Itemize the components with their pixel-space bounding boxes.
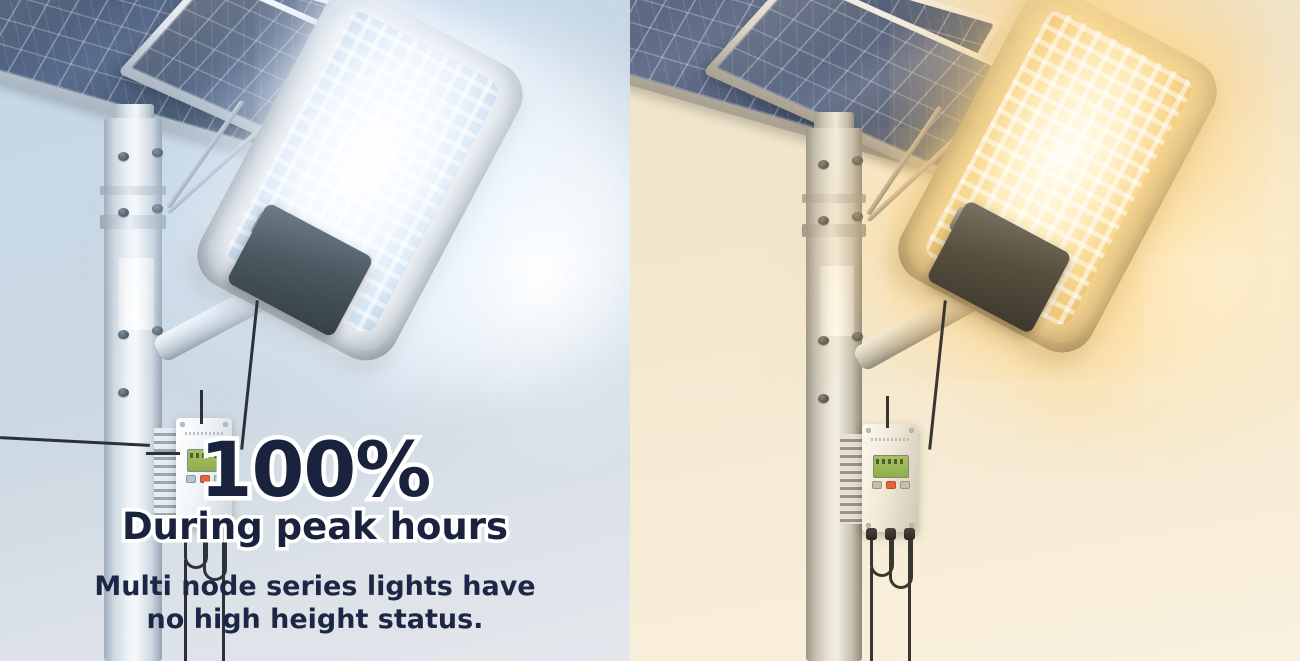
controller-top-cable (200, 390, 203, 424)
cable-gland (866, 528, 877, 540)
controller-buttons-right[interactable] (872, 481, 910, 489)
pole-bolt (818, 160, 829, 169)
pole-bolt (818, 216, 829, 225)
left-description: Multi node series lights have no high he… (0, 571, 630, 637)
pole-collar-upper-right (802, 194, 866, 203)
left-text-block: 100% During peak hours Multi node series… (0, 432, 630, 637)
controller-screw (866, 428, 871, 433)
pole-bolt (118, 330, 129, 339)
pole-collar-upper-left (100, 186, 166, 195)
left-description-line1: Multi node series lights have (2, 571, 628, 604)
panel-right-off-peak-hours: 30% Off peak hours Multi node series lig… (630, 0, 1300, 661)
power-cable-drop (870, 568, 873, 661)
right-subtitle-line: Off peak hours (1282, 496, 1300, 533)
pole-bolt (818, 336, 829, 345)
panel-left-peak-hours: 100% During peak hours Multi node series… (0, 0, 630, 661)
pole-bolt (152, 148, 163, 157)
pole-white-band-right (820, 266, 854, 336)
controller-lcd-right (873, 455, 909, 478)
pole-collar-left (100, 215, 166, 229)
left-subtitle: During peak hours (122, 505, 508, 548)
pole-bolt (118, 152, 129, 161)
pole-collar-right (802, 224, 866, 237)
left-description-line2: no high height status. (2, 604, 628, 637)
comparison-banner: 100% During peak hours Multi node series… (0, 0, 1300, 661)
power-cable-drop (908, 540, 911, 661)
controller-top-cable (886, 396, 889, 428)
left-subtitle-line: During peak hours (0, 508, 630, 545)
solar-street-light-assembly-right (630, 0, 1300, 661)
controller-screw (180, 422, 185, 427)
pole-bolt (152, 204, 163, 213)
controller-brand-label (871, 438, 909, 441)
right-description: Multi node series lights do not require … (1282, 561, 1300, 660)
controller-heatsink-right (840, 434, 864, 524)
cable-gland (904, 528, 915, 540)
pole-bolt (852, 156, 863, 165)
pole-white-band-left (118, 258, 154, 330)
pole-right (806, 128, 862, 661)
pole-bolt (852, 212, 863, 221)
cable-gland (885, 528, 896, 540)
right-percent-line: 30% (1282, 420, 1300, 496)
left-percent-line: 100% (0, 432, 630, 508)
pole-bolt (852, 332, 863, 341)
controller-screw (909, 428, 914, 433)
controller-button-red[interactable] (886, 481, 896, 489)
controller-button[interactable] (872, 481, 882, 489)
right-text-block: 30% Off peak hours Multi node series lig… (1282, 420, 1300, 660)
pole-bolt (118, 208, 129, 217)
solar-charge-controller-right (862, 424, 918, 532)
controller-button[interactable] (900, 481, 910, 489)
pole-bolt (118, 388, 129, 397)
pole-bolt (818, 394, 829, 403)
left-percent: 100% (200, 425, 431, 514)
lcd-readout (876, 459, 906, 464)
